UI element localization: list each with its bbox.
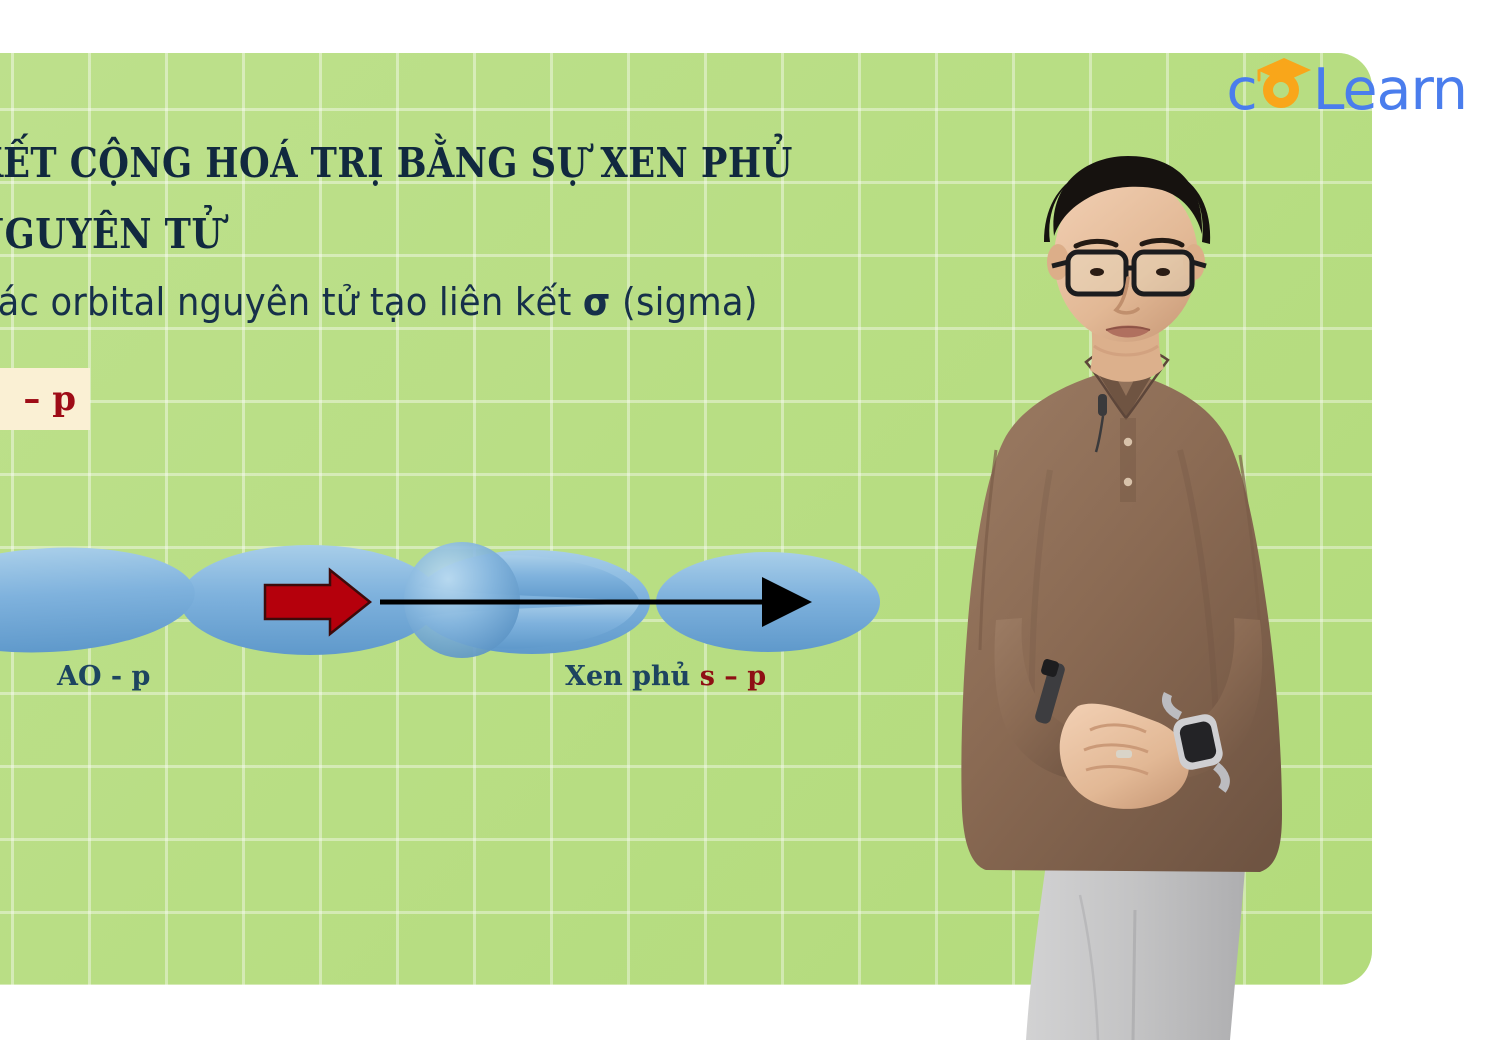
label-xen-phu-text: Xen phủ (565, 661, 700, 692)
label-xen-phu-sp: s – p (700, 661, 766, 692)
label-xen-phu: Xen phủ s – p (565, 661, 766, 692)
presenter-figure (930, 150, 1400, 1040)
graduation-cap-icon (1253, 56, 1315, 86)
video-frame: KẾT CỘNG HOÁ TRỊ BẰNG SỰ XEN PHỦ NGUYÊN … (0, 0, 1485, 1040)
presenter-pants (1026, 850, 1246, 1040)
orbital-overlap-diagram (0, 0, 900, 720)
colearn-logo[interactable]: c Learn (1226, 58, 1467, 122)
p-orbital-left (0, 539, 440, 660)
logo-letter-o-with-cap (1257, 58, 1313, 122)
label-ao-p: AO - p (57, 661, 150, 692)
presenter-head (1044, 156, 1210, 355)
logo-word-learn: Learn (1313, 62, 1467, 119)
finger-ring-icon (1116, 750, 1132, 758)
orbital-overlap-group (380, 542, 880, 658)
